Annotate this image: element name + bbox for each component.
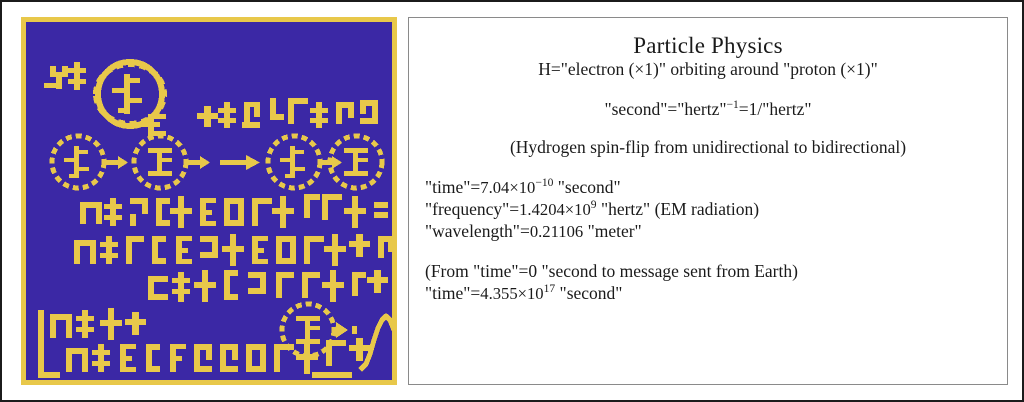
measurement-frequency-label: "frequency"= (425, 199, 519, 219)
measurement-wavelength-label: "wavelength"= (425, 221, 530, 241)
physics-text-panel: Particle Physics H="electron (×1)" orbit… (408, 17, 1008, 385)
measurement-frequency-mantissa: 1.4204×10 (519, 200, 591, 219)
unit-relation-exponent: −1 (726, 100, 738, 112)
spacer-4 (425, 242, 991, 261)
measurement-time-mantissa: 7.04×10 (480, 178, 535, 197)
origin-measurement-mantissa: 4.355×10 (480, 284, 543, 303)
measurement-wavelength: "wavelength"=0.21106 "meter" (425, 221, 991, 243)
measurement-wavelength-unit: "meter" (583, 221, 642, 241)
measurement-frequency: "frequency"=1.4204×109 "hertz" (EM radia… (425, 199, 991, 221)
origin-measurement-exponent: 17 (544, 283, 556, 295)
spacer-3 (425, 158, 991, 177)
origin-measurement-unit: "second" (555, 283, 622, 303)
origin-note: (From "time"=0 "second to message sent f… (425, 261, 991, 283)
alien-message-graphic (26, 22, 392, 380)
panel-title: Particle Physics (425, 32, 991, 59)
spin-flip-note: (Hydrogen spin-flip from unidirectional … (425, 137, 991, 158)
measurement-time-label: "time"= (425, 177, 480, 197)
spacer-1 (425, 80, 991, 99)
measurement-time-unit: "second" (553, 177, 620, 197)
unit-relation: "second"="hertz"−1=1/"hertz" (425, 99, 991, 120)
measurement-time-exponent: −10 (535, 177, 553, 189)
measurement-wavelength-mantissa: 0.21106 (530, 222, 583, 241)
measurement-time: "time"=7.04×10−10 "second" (425, 177, 991, 199)
measurement-frequency-annotation: (EM radiation) (650, 199, 759, 219)
spacer-2 (425, 121, 991, 137)
alien-message-panel (21, 17, 397, 385)
measurement-frequency-unit: "hertz" (597, 199, 651, 219)
origin-measurement: "time"=4.355×1017 "second" (425, 283, 991, 305)
figure-root: Particle Physics H="electron (×1)" orbit… (0, 0, 1024, 402)
hydrogen-definition: H="electron (×1)" orbiting around "proto… (425, 59, 991, 80)
unit-relation-prefix: "second"="hertz" (604, 99, 726, 119)
origin-measurement-label: "time"= (425, 283, 480, 303)
unit-relation-suffix: =1/"hertz" (739, 99, 812, 119)
